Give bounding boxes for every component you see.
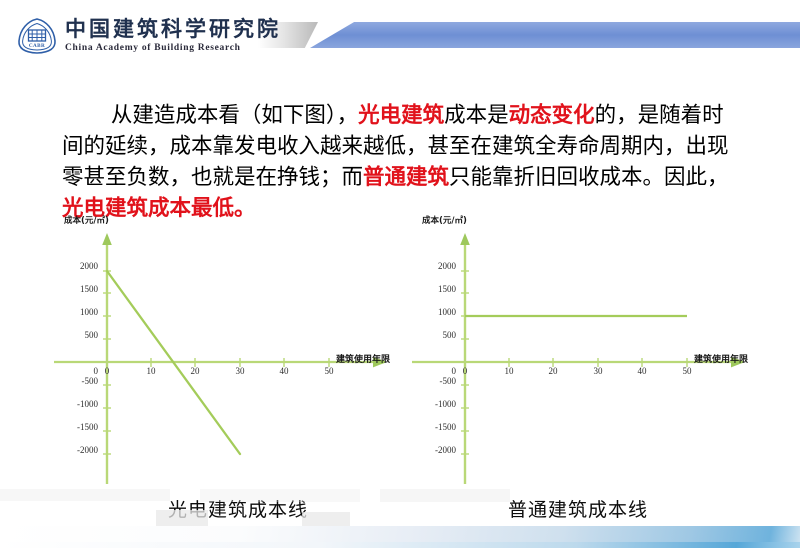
- organization-logo-text: 中国建筑科学研究院 China Academy of Building Rese…: [65, 17, 281, 54]
- chart-1-xtick-2: 20: [541, 366, 565, 376]
- chart-0-xtick-4: 40: [272, 366, 296, 376]
- chart-0-y-axis-arrow: [102, 233, 112, 245]
- chart-1-ytick-0: 2000: [410, 261, 456, 271]
- chart-0-xtick-2: 20: [183, 366, 207, 376]
- chart-ordinary-building-cost-line: 成本(元/㎡) 建筑使用年限: [408, 214, 768, 484]
- chart-0-ytick-0: 2000: [52, 261, 98, 271]
- chart-1-ytick-8: -2000: [410, 445, 456, 455]
- charts-container: 成本(元/㎡) 建筑使用年限: [0, 214, 800, 484]
- paragraph-highlight-1: 光电建筑: [358, 103, 444, 128]
- paragraph-text-2: 成本是: [444, 103, 509, 128]
- page-footer: [0, 526, 800, 548]
- paragraph-highlight-5: 普通建筑: [363, 165, 449, 190]
- paragraph-text-0: 从建造成本看（如下图），: [111, 103, 358, 128]
- scan-artifact: [380, 489, 510, 502]
- chart-1-ytick-6: -1000: [410, 399, 456, 409]
- scan-artifact: [156, 510, 208, 527]
- chart-1-xtick-4: 40: [630, 366, 654, 376]
- organization-logo: CABR 中国建筑科学研究院 China Academy of Building…: [16, 17, 281, 55]
- chart-0-xtick-3: 30: [228, 366, 252, 376]
- chart-0-xtick-5: 50: [317, 366, 341, 376]
- chart-1-plot: [408, 214, 768, 484]
- chart-1-ytick-5: -500: [410, 376, 456, 386]
- chart-0-ytick-6: -1000: [52, 399, 98, 409]
- chart-1-ytick-7: -1500: [410, 422, 456, 432]
- page-header: CABR 中国建筑科学研究院 China Academy of Building…: [0, 0, 800, 66]
- chart-1-ytick-1: 1500: [410, 284, 456, 294]
- chart-0-ytick-1: 1500: [52, 284, 98, 294]
- paragraph-highlight-3: 动态变化: [509, 103, 595, 128]
- chart-1-ytick-3: 500: [410, 330, 456, 340]
- chart-0-xtick-1: 10: [139, 366, 163, 376]
- chart-0-plot: [50, 214, 410, 484]
- chart-0-ytick-4: 0: [52, 366, 98, 376]
- chart-1-x-axis-title: 建筑使用年限: [694, 352, 748, 365]
- chart-1-ytick-2: 1000: [410, 307, 456, 317]
- chart-pv-building-cost-line: 成本(元/㎡) 建筑使用年限: [50, 214, 410, 484]
- chart-1-xtick-5: 50: [675, 366, 699, 376]
- chart-0-ytick-5: -500: [52, 376, 98, 386]
- chart-1-xtick-3: 30: [586, 366, 610, 376]
- chart-0-ytick-3: 500: [52, 330, 98, 340]
- chart-1-xtick-1: 10: [497, 366, 521, 376]
- china-academy-shield-logo-icon: CABR: [16, 17, 58, 55]
- header-accent-bar: [258, 22, 800, 48]
- paragraph-text-6: 只能靠折旧回收成本。因此，: [449, 165, 729, 190]
- chart-1-y-axis-arrow: [460, 233, 470, 245]
- chart-0-ytick-8: -2000: [52, 445, 98, 455]
- header-bar-blue-segment: [310, 22, 800, 48]
- scan-artifact: [0, 489, 170, 501]
- chart-1-y-axis-title: 成本(元/㎡): [422, 214, 467, 226]
- chart-0-xtick-0: 0: [95, 366, 119, 376]
- chart-1-xtick-0: 0: [453, 366, 477, 376]
- chart-0-ytick-7: -1500: [52, 422, 98, 432]
- chart-0-ytick-2: 1000: [52, 307, 98, 317]
- scan-artifact: [200, 489, 360, 502]
- chart-1-caption: 普通建筑成本线: [508, 495, 648, 522]
- footer-accent-stripe: [0, 542, 800, 548]
- organization-name-cn: 中国建筑科学研究院: [65, 18, 281, 41]
- chart-0-x-axis-title: 建筑使用年限: [336, 352, 390, 365]
- chart-0-y-axis-title: 成本(元/㎡): [64, 214, 109, 226]
- body-paragraph: 从建造成本看（如下图），光电建筑成本是动态变化的，是随着时间的延续，成本靠发电收…: [62, 100, 742, 224]
- chart-1-ytick-4: 0: [410, 366, 456, 376]
- organization-name-en: China Academy of Building Research: [65, 42, 281, 54]
- svg-text:CABR: CABR: [29, 43, 45, 49]
